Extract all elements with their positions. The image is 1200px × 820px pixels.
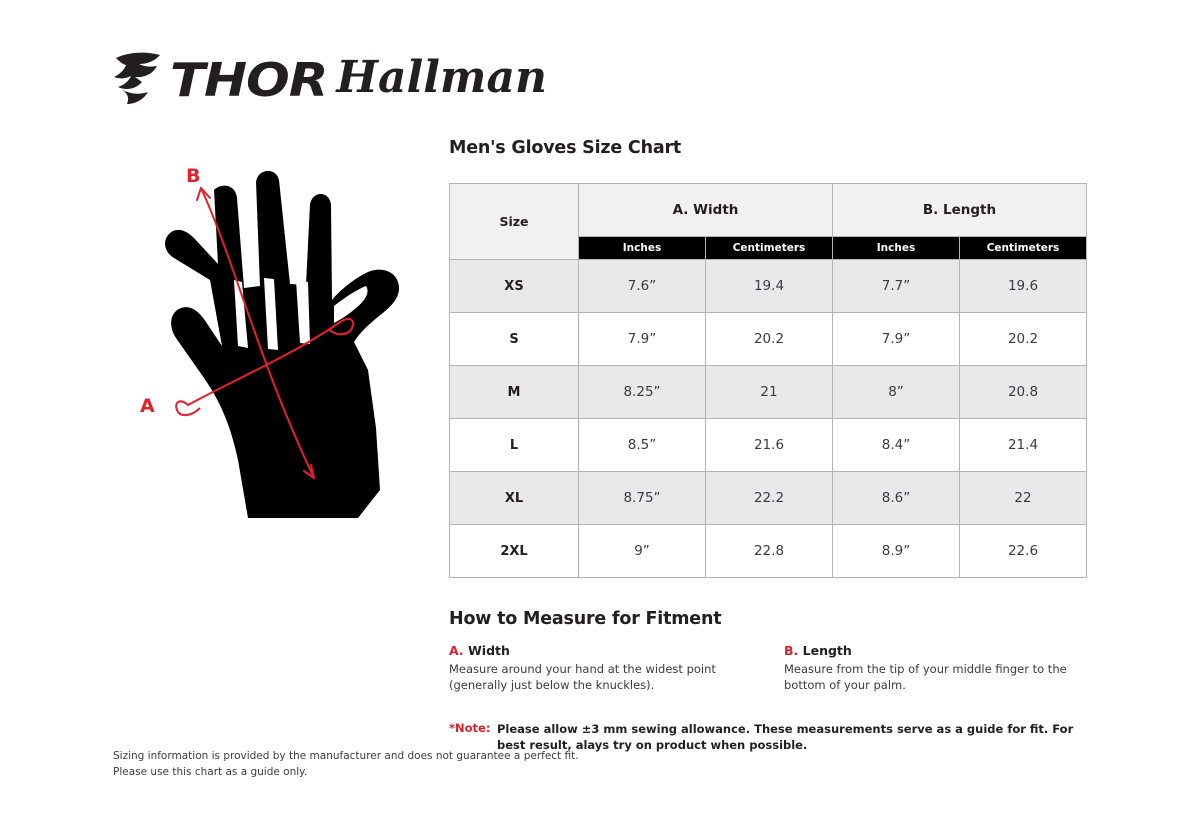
table-row: XL 8.75” 22.2 8.6” 22 xyxy=(450,472,1087,525)
table-row: S 7.9” 20.2 7.9” 20.2 xyxy=(450,313,1087,366)
cell-length-in: 8” xyxy=(833,366,960,419)
cell-width-in: 8.5” xyxy=(579,419,706,472)
cell-size: 2XL xyxy=(450,525,579,578)
measure-column-width: A. Width Measure around your hand at the… xyxy=(449,643,784,694)
how-to-measure-title: How to Measure for Fitment xyxy=(449,609,1087,629)
table-row: M 8.25” 21 8” 20.8 xyxy=(450,366,1087,419)
content-column: Men's Gloves Size Chart Size A. Width B.… xyxy=(449,138,1087,753)
disclaimer-line-1: Sizing information is provided by the ma… xyxy=(113,748,579,764)
hand-silhouette xyxy=(165,171,399,518)
measure-width-text: Measure around your hand at the widest p… xyxy=(449,661,761,694)
size-chart-table: Size A. Width B. Length Inches Centimete… xyxy=(449,183,1087,578)
cell-length-cm: 19.6 xyxy=(960,260,1087,313)
cell-width-in: 8.25” xyxy=(579,366,706,419)
disclaimer-block: Sizing information is provided by the ma… xyxy=(113,748,579,781)
cell-length-in: 7.7” xyxy=(833,260,960,313)
label-a: A xyxy=(140,395,155,417)
measure-length-label: Length xyxy=(803,643,852,658)
measure-length-text: Measure from the tip of your middle fing… xyxy=(784,661,1084,694)
cell-width-in: 7.9” xyxy=(579,313,706,366)
thor-logo: THOR xyxy=(112,51,310,110)
hallman-logo: Hallman xyxy=(336,56,547,100)
cell-width-cm: 19.4 xyxy=(706,260,833,313)
brand-logo-bar: THOR Hallman xyxy=(112,48,547,112)
cell-width-cm: 22.8 xyxy=(706,525,833,578)
table-header-width-centimeters: Centimeters xyxy=(706,237,833,260)
size-chart-title: Men's Gloves Size Chart xyxy=(449,138,1087,158)
thor-helmet-icon xyxy=(112,51,168,110)
thor-wordmark: THOR xyxy=(170,57,327,103)
cell-width-cm: 20.2 xyxy=(706,313,833,366)
table-header-width-inches: Inches xyxy=(579,237,706,260)
cell-length-cm: 22 xyxy=(960,472,1087,525)
cell-width-cm: 22.2 xyxy=(706,472,833,525)
how-to-measure-section: How to Measure for Fitment A. Width Meas… xyxy=(449,609,1087,694)
cell-length-cm: 20.2 xyxy=(960,313,1087,366)
table-header-length-inches: Inches xyxy=(833,237,960,260)
cell-length-cm: 21.4 xyxy=(960,419,1087,472)
cell-length-in: 7.9” xyxy=(833,313,960,366)
hand-measurement-diagram: A B xyxy=(118,160,428,550)
cell-length-in: 8.6” xyxy=(833,472,960,525)
cell-width-in: 9” xyxy=(579,525,706,578)
cell-width-cm: 21 xyxy=(706,366,833,419)
cell-width-in: 8.75” xyxy=(579,472,706,525)
cell-size: XS xyxy=(450,260,579,313)
cell-length-cm: 22.6 xyxy=(960,525,1087,578)
label-b: B xyxy=(186,165,200,187)
table-row: XS 7.6” 19.4 7.7” 19.6 xyxy=(450,260,1087,313)
cell-size: M xyxy=(450,366,579,419)
table-row: 2XL 9” 22.8 8.9” 22.6 xyxy=(450,525,1087,578)
disclaimer-line-2: Please use this chart as a guide only. xyxy=(113,764,579,780)
measure-column-length: B. Length Measure from the tip of your m… xyxy=(784,643,1084,694)
measure-length-marker: B. xyxy=(784,643,798,658)
cell-length-in: 8.4” xyxy=(833,419,960,472)
table-header-size: Size xyxy=(450,184,579,260)
note-text: Please allow ±3 mm sewing allowance. The… xyxy=(497,721,1087,754)
cell-size: XL xyxy=(450,472,579,525)
measure-width-marker: A. xyxy=(449,643,464,658)
measure-width-label: Width xyxy=(468,643,510,658)
table-header-group-width: A. Width xyxy=(579,184,833,237)
note-label: *Note: xyxy=(449,721,497,735)
table-header-length-centimeters: Centimeters xyxy=(960,237,1087,260)
cell-length-cm: 20.8 xyxy=(960,366,1087,419)
cell-length-in: 8.9” xyxy=(833,525,960,578)
measure-length-heading: B. Length xyxy=(784,643,1084,658)
cell-size: L xyxy=(450,419,579,472)
cell-width-in: 7.6” xyxy=(579,260,706,313)
cell-width-cm: 21.6 xyxy=(706,419,833,472)
table-header-group-length: B. Length xyxy=(833,184,1087,237)
cell-size: S xyxy=(450,313,579,366)
measure-width-heading: A. Width xyxy=(449,643,784,658)
table-row: L 8.5” 21.6 8.4” 21.4 xyxy=(450,419,1087,472)
